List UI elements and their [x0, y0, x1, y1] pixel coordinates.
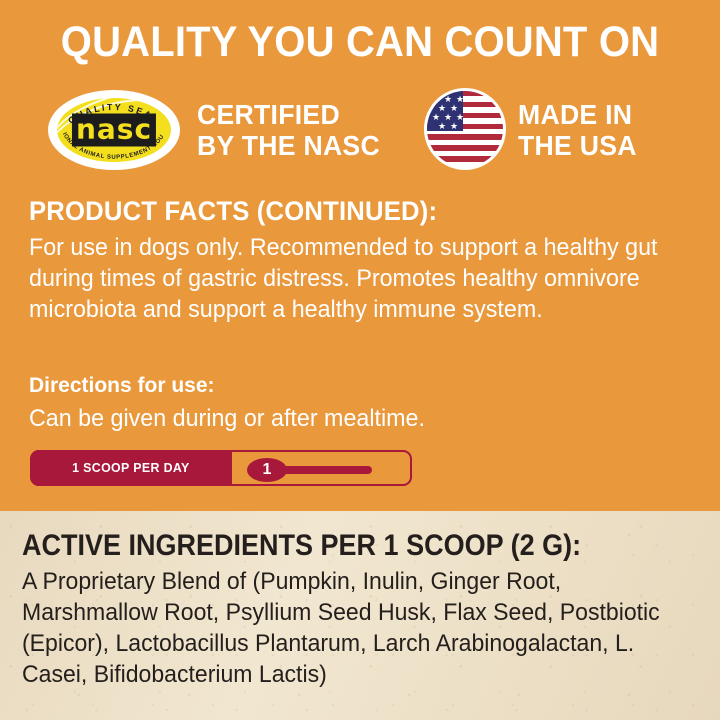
page-title: QUALITY YOU CAN COUNT ON — [25, 18, 695, 66]
certification-badge-row: QUALITY SEAL NATIONAL ANIMAL SUPPLEMENT … — [0, 88, 720, 174]
made-in-usa-line-2: THE USA — [518, 130, 637, 161]
spoon-bowl: 1 — [247, 458, 287, 482]
directions-body: Can be given during or after mealtime. — [29, 404, 660, 434]
ingredients-body: A Proprietary Blend of (Pumpkin, Inulin,… — [22, 566, 675, 690]
dosage-label: 1 SCOOP PER DAY — [72, 460, 190, 475]
seal-wordmark: nasc — [72, 114, 156, 147]
product-label-panel: QUALITY YOU CAN COUNT ON QUALITY SEAL — [0, 0, 720, 720]
flag-canton: ★ ★ ★ ★ ★ ★ ★ ★ ★ ★ — [427, 91, 463, 131]
active-ingredients-section: ACTIVE INGREDIENTS PER 1 SCOOP (2 G): A … — [0, 511, 720, 720]
ingredients-heading: ACTIVE INGREDIENTS PER 1 SCOOP (2 G): — [22, 529, 581, 562]
flag-star: ★ — [438, 122, 446, 131]
flag-star: ★ — [450, 122, 458, 131]
flag-stripe — [427, 156, 503, 161]
spoon-handle — [282, 466, 372, 474]
nasc-quality-seal-icon: QUALITY SEAL NATIONAL ANIMAL SUPPLEMENT … — [48, 90, 180, 170]
flag-stripe — [427, 134, 503, 139]
made-in-usa-label: MADE IN THE USA — [518, 99, 637, 161]
dosage-indicator-bar: 1 SCOOP PER DAY 1 — [30, 450, 412, 486]
product-facts-body: For use in dogs only. Recommended to sup… — [29, 232, 660, 325]
scoop-count: 1 — [263, 462, 272, 478]
usa-flag-circle-icon: ★ ★ ★ ★ ★ ★ ★ ★ ★ ★ — [424, 88, 506, 170]
dosage-label-block: 1 SCOOP PER DAY — [30, 450, 232, 486]
certified-line-1: CERTIFIED — [197, 99, 380, 130]
quality-section: QUALITY YOU CAN COUNT ON QUALITY SEAL — [0, 0, 720, 511]
scoop-spoon-icon: 1 — [247, 458, 392, 482]
made-in-usa-line-1: MADE IN — [518, 99, 637, 130]
directions-heading: Directions for use: — [29, 374, 215, 398]
product-facts-heading: PRODUCT FACTS (CONTINUED): — [29, 196, 437, 226]
certified-by-nasc-label: CERTIFIED BY THE NASC — [197, 99, 380, 161]
flag-stripe — [427, 145, 503, 150]
certified-line-2: BY THE NASC — [197, 130, 380, 161]
flag-disc: ★ ★ ★ ★ ★ ★ ★ ★ ★ ★ — [427, 91, 503, 167]
